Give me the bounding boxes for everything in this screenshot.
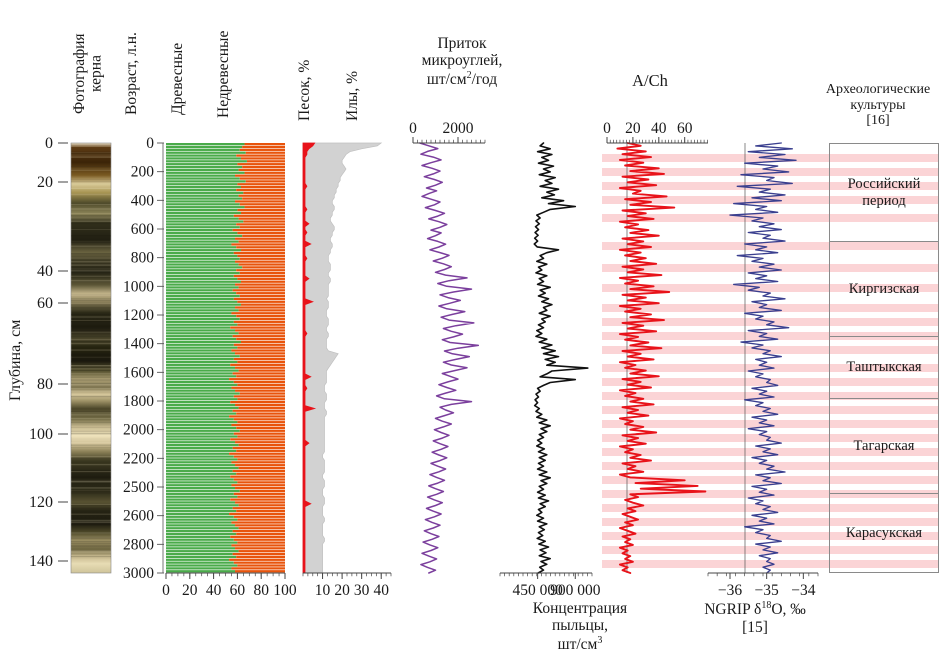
tree-bar	[166, 266, 242, 268]
svg-text:40: 40	[37, 263, 53, 280]
nontree-bar	[245, 206, 285, 208]
nontree-bar	[235, 547, 285, 549]
tree-bar	[166, 258, 240, 260]
culture-label-3: Тагарская	[854, 438, 915, 455]
nontree-bar	[236, 223, 285, 225]
svg-text:100: 100	[29, 426, 53, 443]
tree-bar	[166, 430, 240, 432]
tree-bar	[166, 510, 236, 512]
tree-bar	[166, 263, 239, 265]
nontree-bar	[239, 309, 285, 311]
culture-row-4[interactable]: Карасукская	[829, 494, 939, 573]
tree-bar	[166, 238, 235, 240]
nontree-bar	[237, 398, 285, 400]
nontree-bar	[231, 567, 285, 569]
tree-bar	[166, 444, 239, 446]
nontree-bar	[237, 481, 285, 483]
tree-bar	[166, 530, 233, 532]
tree-bar	[166, 398, 237, 400]
tree-bar	[166, 421, 237, 423]
tree-bar	[166, 163, 237, 165]
tree-bar	[166, 490, 240, 492]
nontree-bar	[237, 564, 285, 566]
tree-bar	[166, 450, 236, 452]
tree-bar	[166, 533, 236, 535]
nontree-bar	[237, 541, 285, 543]
nontree-bar	[233, 289, 285, 291]
tree-bar	[166, 375, 236, 377]
tree-bar	[166, 424, 231, 426]
tree-bar	[166, 478, 234, 480]
tree-bar	[166, 269, 236, 271]
nontree-bar	[235, 487, 285, 489]
tree-bar	[166, 152, 246, 154]
nontree-bar	[240, 355, 285, 357]
nontree-bar	[237, 255, 285, 257]
nontree-bar	[236, 427, 285, 429]
tree-bar	[166, 329, 235, 331]
nontree-bar	[235, 464, 285, 466]
nontree-bar	[240, 430, 285, 432]
svg-text:0: 0	[162, 582, 170, 599]
tree-bar	[166, 453, 229, 455]
svg-text:−34: −34	[791, 582, 815, 599]
nontree-bar	[234, 298, 285, 300]
tree-bar	[166, 470, 233, 472]
nontree-bar	[235, 175, 285, 177]
svg-text:120: 120	[29, 494, 53, 511]
nontree-bar	[231, 349, 285, 351]
svg-text:2600: 2600	[123, 508, 154, 525]
tree-bar	[166, 501, 235, 503]
tree-bar	[166, 412, 236, 414]
tree-bar	[166, 504, 239, 506]
nontree-bar	[231, 544, 285, 546]
nontree-bar	[231, 387, 285, 389]
tree-bar	[166, 261, 235, 263]
nontree-bar	[239, 504, 285, 506]
tree-bar	[166, 467, 239, 469]
svg-text:60: 60	[677, 120, 693, 137]
nontree-bar	[233, 447, 285, 449]
tree-bar	[166, 283, 235, 285]
tree-bar	[166, 272, 240, 274]
nontree-bar	[234, 418, 285, 420]
svg-text:20: 20	[334, 582, 350, 599]
nontree-bar	[236, 412, 285, 414]
culture-row-1[interactable]: Киргизская	[829, 242, 939, 337]
nontree-bar	[231, 484, 285, 486]
figure-canvas: 020406080100120140	[0, 0, 950, 669]
svg-text:800: 800	[131, 250, 155, 267]
nontree-bar	[229, 513, 285, 515]
nontree-bar	[231, 521, 285, 523]
tree-bar	[166, 484, 231, 486]
nontree-bar	[237, 301, 285, 303]
nontree-bar	[241, 186, 285, 188]
tree-bar	[166, 455, 234, 457]
svg-text:20: 20	[625, 120, 641, 137]
svg-text:60: 60	[37, 295, 53, 312]
tree-bar	[166, 570, 235, 572]
tree-bar	[166, 160, 247, 162]
nontree-bar	[229, 415, 285, 417]
svg-text:10: 10	[315, 582, 331, 599]
nontree-bar	[230, 401, 285, 403]
tree-bar	[166, 361, 237, 363]
nontree-bar	[239, 467, 285, 469]
nontree-bar	[229, 559, 285, 561]
tree-bar	[166, 186, 241, 188]
tree-bar	[166, 493, 234, 495]
nontree-bar	[235, 352, 285, 354]
nontree-bar	[241, 341, 285, 343]
tree-bar	[166, 536, 230, 538]
tree-bar	[166, 355, 240, 357]
tree-bar	[166, 556, 236, 558]
nontree-bar	[233, 553, 285, 555]
tree-bar	[166, 547, 235, 549]
nontree-bar	[234, 321, 285, 323]
nontree-bar	[234, 275, 285, 277]
tree-bar	[166, 298, 234, 300]
nontree-bar	[237, 458, 285, 460]
nontree-bar	[240, 177, 285, 179]
svg-text:20: 20	[37, 174, 53, 191]
tree-bar	[166, 143, 245, 145]
nontree-bar	[230, 536, 285, 538]
nontree-bar	[246, 152, 285, 154]
nontree-bar	[234, 516, 285, 518]
svg-text:2500: 2500	[123, 479, 154, 496]
tree-bar	[166, 292, 236, 294]
tree-bar	[166, 301, 237, 303]
culture-label-1: Киргизская	[849, 281, 919, 298]
tree-bar	[166, 215, 234, 217]
tree-bar	[166, 249, 241, 251]
tree-bar	[166, 435, 237, 437]
nontree-bar	[237, 421, 285, 423]
nontree-bar	[233, 229, 285, 231]
culture-label-2: Таштыкская	[846, 359, 921, 376]
nontree-bar	[239, 240, 285, 242]
tree-bar	[166, 401, 230, 403]
nontree-bar	[235, 200, 285, 202]
tree-bar	[166, 487, 235, 489]
nontree-bar	[236, 556, 285, 558]
svg-text:100: 100	[273, 582, 297, 599]
tree-bar	[166, 240, 239, 242]
nontree-bar	[235, 524, 285, 526]
nontree-bar	[239, 169, 285, 171]
nontree-bar	[237, 384, 285, 386]
nontree-bar	[235, 283, 285, 285]
nontree-bar	[234, 478, 285, 480]
nontree-bar	[239, 286, 285, 288]
tree-bar	[166, 338, 236, 340]
tree-bar	[166, 278, 237, 280]
tree-bar	[166, 332, 239, 334]
tree-bar	[166, 496, 237, 498]
nontree-bar	[229, 378, 285, 380]
tree-bar	[166, 367, 235, 369]
tree-bar	[166, 197, 242, 199]
tree-bar	[166, 553, 233, 555]
nontree-bar	[237, 361, 285, 363]
tree-bar	[166, 326, 230, 328]
tree-bar	[166, 275, 234, 277]
tree-bar	[166, 157, 241, 159]
nontree-bar	[240, 272, 285, 274]
svg-text:1200: 1200	[123, 307, 154, 324]
tree-bar	[166, 255, 237, 257]
culture-row-0[interactable]: Российский период	[829, 143, 939, 242]
tree-bar	[166, 372, 233, 374]
tree-bar	[166, 564, 237, 566]
nontree-bar	[234, 252, 285, 254]
nontree-bar	[242, 166, 285, 168]
nontree-bar	[231, 243, 285, 245]
nontree-bar	[229, 453, 285, 455]
nontree-bar	[236, 338, 285, 340]
tree-bar	[166, 473, 236, 475]
tree-bar	[166, 387, 231, 389]
tree-bar	[166, 378, 229, 380]
nontree-bar	[233, 470, 285, 472]
nontree-bar	[236, 154, 285, 156]
nontree-bar	[237, 496, 285, 498]
nontree-bar	[234, 215, 285, 217]
tree-bar	[166, 476, 230, 478]
tree-bar	[166, 183, 237, 185]
nontree-bar	[239, 444, 285, 446]
nontree-bar	[234, 358, 285, 360]
nontree-bar	[239, 369, 285, 371]
nontree-bar	[234, 455, 285, 457]
tree-bar	[166, 395, 234, 397]
svg-text:2000: 2000	[123, 422, 154, 439]
nontree-bar	[231, 424, 285, 426]
tree-bar	[166, 243, 231, 245]
nontree-bar	[241, 281, 285, 283]
nontree-bar	[230, 326, 285, 328]
nontree-bar	[234, 562, 285, 564]
nontree-bar	[237, 163, 285, 165]
svg-text:1800: 1800	[123, 393, 154, 410]
tree-bar	[166, 312, 231, 314]
tree-bar	[166, 447, 233, 449]
svg-text:80: 80	[37, 376, 53, 393]
nontree-bar	[246, 180, 285, 182]
tree-bar	[166, 524, 235, 526]
nontree-bar	[241, 157, 285, 159]
tree-bar	[166, 481, 237, 483]
tree-bar	[166, 550, 239, 552]
nontree-bar	[236, 510, 285, 512]
tree-bar	[166, 252, 234, 254]
tree-bar	[166, 180, 246, 182]
culture-row-2[interactable]: Таштыкская	[829, 337, 939, 399]
tree-bar	[166, 567, 231, 569]
nontree-bar	[245, 143, 285, 145]
nontree-bar	[230, 438, 285, 440]
nontree-bar	[236, 375, 285, 377]
nontree-bar	[239, 527, 285, 529]
svg-text:900 000: 900 000	[550, 582, 601, 599]
nontree-bar	[235, 306, 285, 308]
nontree-bar	[237, 435, 285, 437]
tree-bar	[166, 415, 229, 417]
culture-label-4: Карасукская	[846, 525, 922, 542]
svg-text:3000: 3000	[123, 565, 154, 582]
culture-row-3[interactable]: Тагарская	[829, 399, 939, 494]
tree-bar	[166, 154, 236, 156]
nontree-bar	[241, 212, 285, 214]
tree-bar	[166, 235, 242, 237]
tree-bar	[166, 541, 237, 543]
tree-bar	[166, 169, 239, 171]
nontree-bar	[231, 461, 285, 463]
tree-bar	[166, 223, 236, 225]
tree-bar	[166, 306, 235, 308]
nontree-bar	[240, 490, 285, 492]
svg-text:1400: 1400	[123, 336, 154, 353]
tree-bar	[166, 507, 233, 509]
depth-axis: 020406080100120140	[29, 135, 68, 573]
nontree-bar	[242, 146, 285, 148]
nontree-bar	[234, 381, 285, 383]
nontree-bar	[247, 160, 285, 162]
nontree-bar	[236, 292, 285, 294]
tree-bar	[166, 189, 236, 191]
age-axis: 0200400600800100012001400160018002000220…	[123, 135, 164, 582]
nontree-bar	[245, 172, 285, 174]
nontree-bar	[234, 539, 285, 541]
tree-bar	[166, 318, 240, 320]
nontree-bar	[235, 261, 285, 263]
nontree-bar	[237, 519, 285, 521]
tree-bar	[166, 175, 235, 177]
tree-bar	[166, 166, 242, 168]
nontree-bar	[239, 195, 285, 197]
tree-bar	[166, 369, 239, 371]
tree-bar	[166, 498, 230, 500]
nontree-bar	[235, 404, 285, 406]
grain-size-panel: 10203040	[303, 143, 391, 599]
tree-bar	[166, 304, 241, 306]
tree-bar	[166, 192, 243, 194]
svg-text:20: 20	[182, 582, 198, 599]
nontree-bar	[236, 533, 285, 535]
tree-bar	[166, 404, 235, 406]
svg-text:2800: 2800	[123, 536, 154, 553]
nontree-bar	[234, 344, 285, 346]
pollen-concentration-panel: 450 000900 000	[500, 143, 601, 599]
svg-text:−35: −35	[755, 582, 779, 599]
nontree-bar	[237, 278, 285, 280]
nontree-bar	[239, 263, 285, 265]
nontree-bar	[235, 329, 285, 331]
nontree-bar	[239, 332, 285, 334]
tree-bar	[166, 438, 230, 440]
tree-bar	[166, 433, 234, 435]
nontree-bar	[234, 433, 285, 435]
tree-bar	[166, 521, 231, 523]
nontree-bar	[242, 266, 285, 268]
svg-text:60: 60	[230, 582, 246, 599]
nontree-bar	[240, 318, 285, 320]
nontree-bar	[242, 235, 285, 237]
tree-bar	[166, 149, 240, 151]
tree-bar	[166, 232, 237, 234]
nontree-bar	[235, 367, 285, 369]
svg-text:1000: 1000	[123, 278, 154, 295]
nontree-bar	[233, 530, 285, 532]
tree-bar	[166, 418, 234, 420]
nontree-bar	[233, 372, 285, 374]
nontree-bar	[235, 501, 285, 503]
svg-text:600: 600	[131, 221, 155, 238]
svg-text:40: 40	[651, 120, 667, 137]
tree-bar	[166, 212, 241, 214]
tree-bar	[166, 562, 234, 564]
nontree-bar	[236, 450, 285, 452]
tree-bar	[166, 321, 234, 323]
svg-text:140: 140	[29, 553, 53, 570]
svg-text:0: 0	[45, 135, 53, 152]
svg-text:40: 40	[206, 582, 222, 599]
tree-bar	[166, 384, 237, 386]
nontree-bar	[239, 550, 285, 552]
nontree-bar	[240, 149, 285, 151]
nontree-bar	[230, 364, 285, 366]
tree-bar	[166, 218, 239, 220]
nontree-bar	[235, 390, 285, 392]
nontree-bar	[234, 493, 285, 495]
tree-bar	[166, 203, 240, 205]
nontree-bar	[240, 258, 285, 260]
tree-bar	[166, 200, 235, 202]
svg-text:400: 400	[131, 192, 155, 209]
nontree-bar	[230, 476, 285, 478]
tree-bar	[166, 344, 234, 346]
nontree-bar	[235, 441, 285, 443]
tree-bar	[166, 410, 233, 412]
nontree-bar	[231, 312, 285, 314]
nontree-bar	[239, 218, 285, 220]
tree-bar	[166, 146, 242, 148]
nontree-bar	[241, 249, 285, 251]
tree-bar	[166, 341, 241, 343]
tree-bar	[166, 177, 240, 179]
svg-text:1600: 1600	[123, 364, 154, 381]
nontree-bar	[235, 570, 285, 572]
svg-text:2000: 2000	[443, 120, 474, 137]
svg-text:30: 30	[354, 582, 370, 599]
tree-bar	[166, 226, 240, 228]
nontree-bar	[240, 203, 285, 205]
nontree-bar	[237, 232, 285, 234]
tree-bar	[166, 392, 240, 394]
nontree-bar	[236, 189, 285, 191]
tree-bar	[166, 358, 234, 360]
nontree-bar	[233, 410, 285, 412]
nontree-bar	[243, 220, 285, 222]
tree-bar	[166, 295, 240, 297]
nontree-bar	[240, 295, 285, 297]
tree-bar	[166, 390, 235, 392]
tree-bar	[166, 347, 237, 349]
